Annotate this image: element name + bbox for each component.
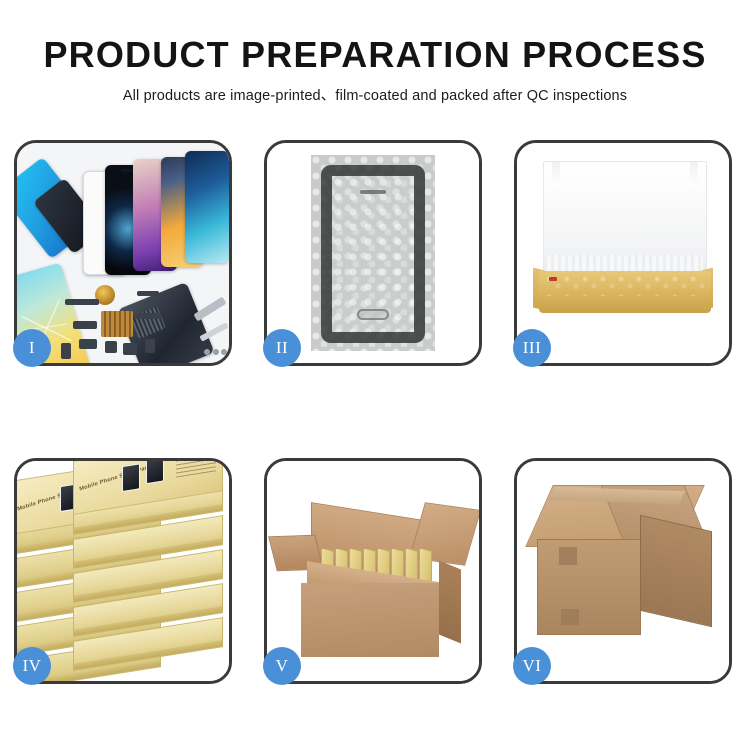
carton-front-panel: [301, 583, 439, 657]
box-brand-label: Mobile Phone Spare Parts: [79, 464, 153, 493]
step-badge-3: III: [513, 329, 551, 367]
connector-part: [145, 339, 155, 353]
screws-icon: [203, 347, 227, 357]
carton-seam-tab: [559, 547, 577, 565]
flex-cable-part: [73, 321, 97, 329]
carton-front-panel: [537, 539, 641, 635]
phone-screen-teal: [185, 151, 229, 263]
camera-module-part: [105, 341, 117, 353]
step-panel-5: V: [264, 458, 482, 684]
carton-seam-tab: [561, 609, 579, 625]
tweezers-icon: [193, 297, 226, 322]
page-subtitle: All products are image-printed、film-coat…: [0, 84, 750, 105]
box-artwork-phone: [146, 461, 164, 484]
step-panel-3: III: [514, 140, 732, 366]
kraft-tray-with-screen: [539, 271, 711, 313]
flex-cable-part: [79, 339, 97, 349]
earpiece-slot: [360, 190, 386, 194]
battery-part: [61, 343, 71, 359]
flex-cable-part: [135, 313, 161, 319]
step-badge-4: IV: [13, 647, 51, 685]
screen-frame: [321, 165, 425, 343]
box-spec-lines: [176, 461, 216, 478]
step-badge-2: II: [263, 329, 301, 367]
step-panel-1: I: [14, 140, 232, 366]
box-artwork-phone: [122, 463, 140, 492]
step-badge-6: VI: [513, 647, 551, 685]
bubble-wrap-photo: [311, 155, 435, 351]
step-panel-2: II: [264, 140, 482, 366]
page-title: PRODUCT PREPARATION PROCESS: [0, 36, 750, 74]
step-image-open-carton-packing: [267, 461, 479, 681]
step-image-bubble-wrapped-screen: [267, 143, 479, 363]
step-image-stacked-retail-boxes: Mobile Phone Spare Parts Mobile Phone Sp…: [17, 461, 229, 681]
box-stack: Mobile Phone Spare Parts Mobile Phone Sp…: [17, 471, 229, 677]
step-panel-4: Mobile Phone Spare Parts Mobile Phone Sp…: [14, 458, 232, 684]
carton-side-panel: [439, 561, 461, 644]
step-image-foam-boxed-screen: [517, 143, 729, 363]
process-steps-grid: I II III: [14, 140, 736, 684]
step-image-product-collage: [17, 143, 229, 363]
header: PRODUCT PREPARATION PROCESS All products…: [0, 0, 750, 105]
home-button: [357, 309, 389, 320]
flex-cable-part: [137, 291, 159, 296]
step-badge-5: V: [263, 647, 301, 685]
chip-contacts-icon: [101, 311, 133, 337]
flex-cable-part: [65, 299, 99, 305]
step-image-sealed-carton: [517, 461, 729, 681]
step-badge-1: I: [13, 329, 51, 367]
speaker-part: [123, 343, 137, 355]
carton-side-panel: [640, 515, 712, 628]
step-panel-6: VI: [514, 458, 732, 684]
